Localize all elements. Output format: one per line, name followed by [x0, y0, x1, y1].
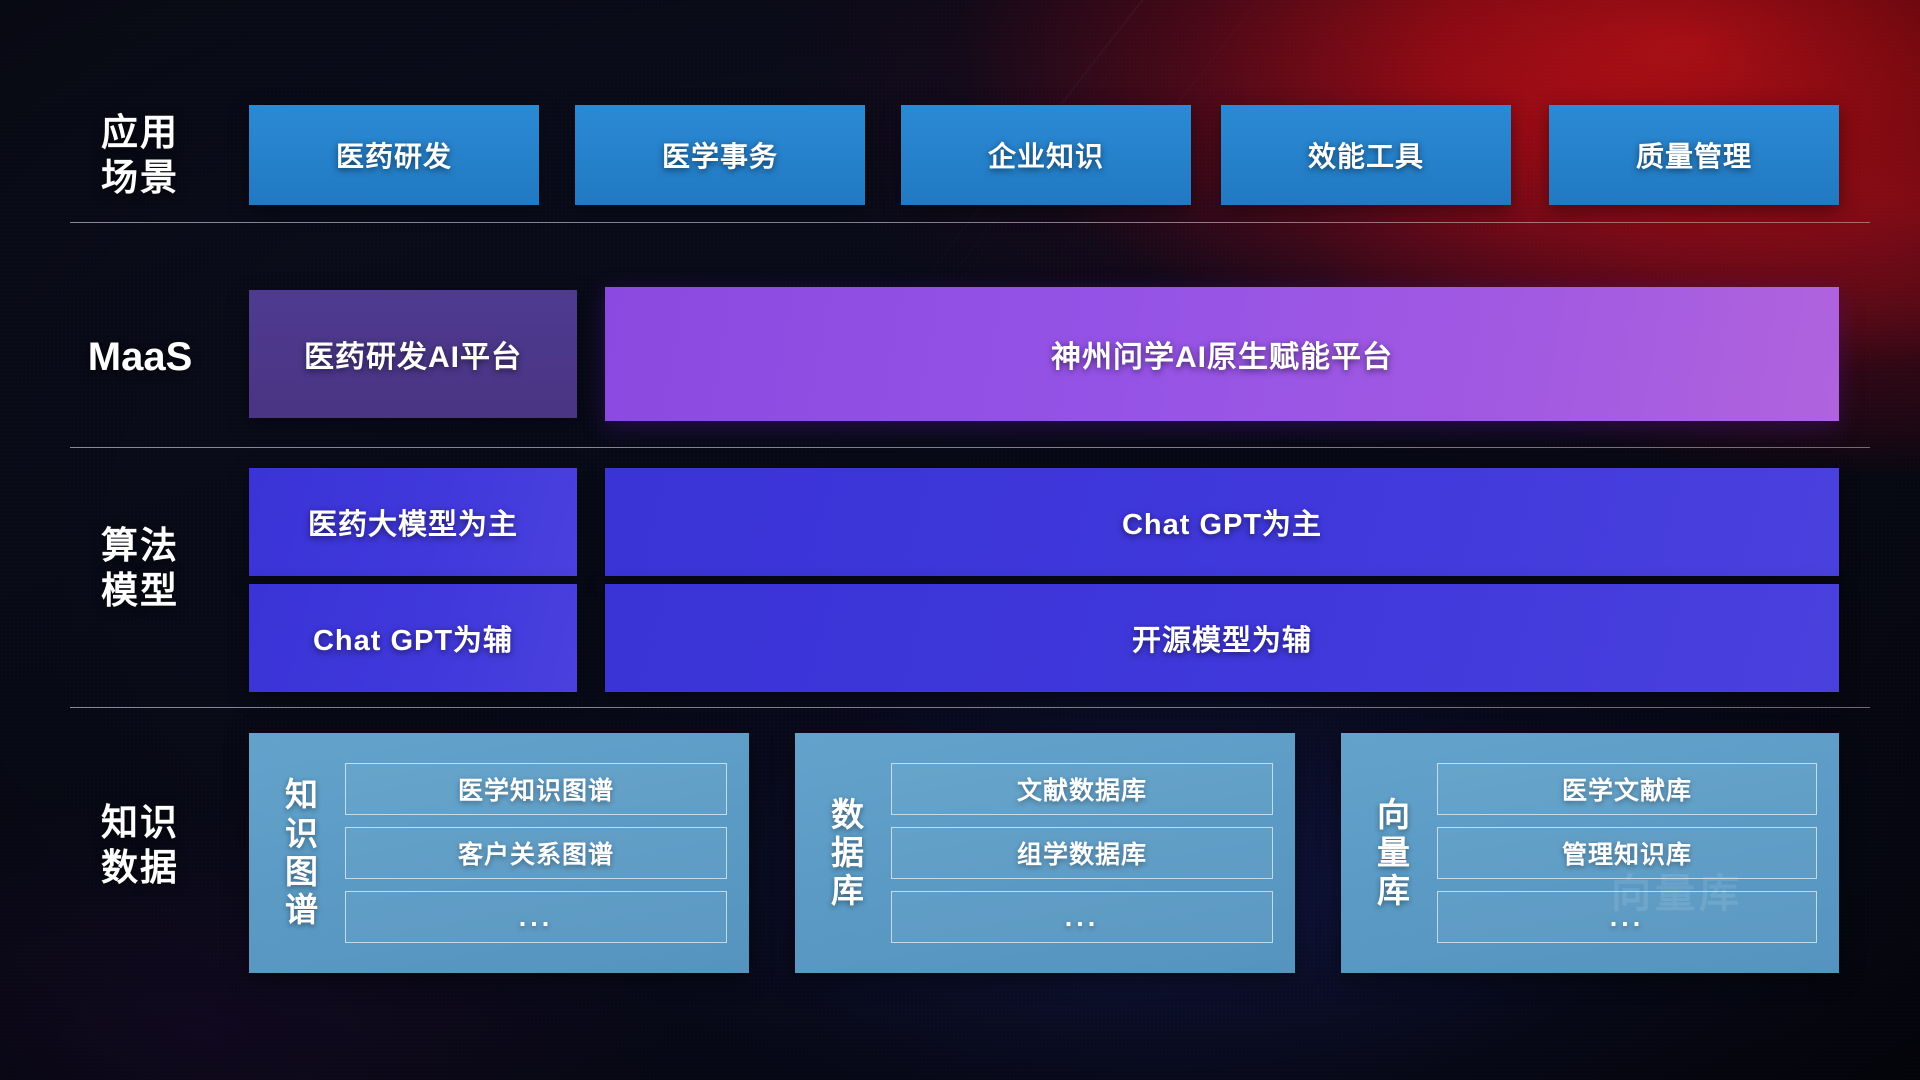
row-label-knowledge-line2: 数据 — [70, 845, 210, 890]
knowledge-card-database-title: 数 据 库 — [817, 796, 879, 911]
divider-application-maas — [70, 222, 1870, 223]
row-label-algorithm: 算法 模型 — [70, 523, 210, 613]
knowledge-card-graph-items: 医学知识图谱 客户关系图谱 ... — [333, 747, 749, 959]
vlabel-char: 知 — [271, 776, 333, 814]
knowledge-card-database-items: 文献数据库 组学数据库 ... — [879, 747, 1295, 959]
divider-maas-algorithm — [70, 447, 1870, 448]
knowledge-item-more[interactable]: ... — [1437, 891, 1817, 943]
algo-box-drug-model-primary[interactable]: 医药大模型为主 — [249, 468, 577, 576]
knowledge-item-management-knowledge[interactable]: 管理知识库 — [1437, 827, 1817, 879]
app-box-efficiency-tools[interactable]: 效能工具 — [1221, 105, 1511, 205]
vlabel-char: 识 — [271, 815, 333, 853]
knowledge-item-more[interactable]: ... — [891, 891, 1273, 943]
app-box-drug-rd[interactable]: 医药研发 — [249, 105, 539, 205]
row-label-knowledge-line1: 知识 — [70, 800, 210, 845]
row-label-application: 应用 场景 — [70, 110, 210, 200]
knowledge-card-graph[interactable]: 知 识 图 谱 医学知识图谱 客户关系图谱 ... — [249, 733, 749, 973]
knowledge-card-graph-title: 知 识 图 谱 — [271, 776, 333, 929]
app-box-quality-management[interactable]: 质量管理 — [1549, 105, 1839, 205]
knowledge-item-more[interactable]: ... — [345, 891, 727, 943]
vlabel-char: 向 — [1363, 796, 1425, 834]
vlabel-char: 量 — [1363, 834, 1425, 872]
knowledge-item-medical-literature[interactable]: 医学文献库 — [1437, 763, 1817, 815]
vlabel-char: 谱 — [271, 891, 333, 929]
vlabel-char: 数 — [817, 796, 879, 834]
maas-box-shenzhou-platform[interactable]: 神州问学AI原生赋能平台 — [605, 287, 1839, 421]
vlabel-char: 图 — [271, 853, 333, 891]
app-box-enterprise-knowledge[interactable]: 企业知识 — [901, 105, 1191, 205]
knowledge-item-customer-graph[interactable]: 客户关系图谱 — [345, 827, 727, 879]
algo-box-chatgpt-primary[interactable]: Chat GPT为主 — [605, 468, 1839, 576]
knowledge-card-vector-items: 医学文献库 管理知识库 ... — [1425, 747, 1839, 959]
knowledge-item-medical-graph[interactable]: 医学知识图谱 — [345, 763, 727, 815]
row-label-algorithm-line2: 模型 — [70, 568, 210, 613]
row-label-application-line1: 应用 — [70, 110, 210, 155]
vlabel-char: 库 — [817, 872, 879, 910]
vlabel-char: 库 — [1363, 872, 1425, 910]
row-label-maas: MaaS — [70, 333, 210, 382]
architecture-diagram: 应用 场景 医药研发 医学事务 企业知识 效能工具 质量管理 MaaS 医药研发… — [0, 0, 1920, 1080]
row-label-knowledge: 知识 数据 — [70, 800, 210, 890]
knowledge-card-database[interactable]: 数 据 库 文献数据库 组学数据库 ... — [795, 733, 1295, 973]
knowledge-card-vector[interactable]: 向 量 库 医学文献库 管理知识库 ... 向量库 — [1341, 733, 1839, 973]
knowledge-card-vector-title: 向 量 库 — [1363, 796, 1425, 911]
maas-box-drug-ai-platform[interactable]: 医药研发AI平台 — [249, 290, 577, 418]
vlabel-char: 据 — [817, 834, 879, 872]
row-label-algorithm-line1: 算法 — [70, 523, 210, 568]
knowledge-item-literature-db[interactable]: 文献数据库 — [891, 763, 1273, 815]
knowledge-item-omics-db[interactable]: 组学数据库 — [891, 827, 1273, 879]
algo-box-opensource-secondary[interactable]: 开源模型为辅 — [605, 584, 1839, 692]
divider-algorithm-knowledge — [70, 707, 1870, 708]
algo-box-chatgpt-secondary[interactable]: Chat GPT为辅 — [249, 584, 577, 692]
app-box-medical-affairs[interactable]: 医学事务 — [575, 105, 865, 205]
row-label-application-line2: 场景 — [70, 155, 210, 200]
